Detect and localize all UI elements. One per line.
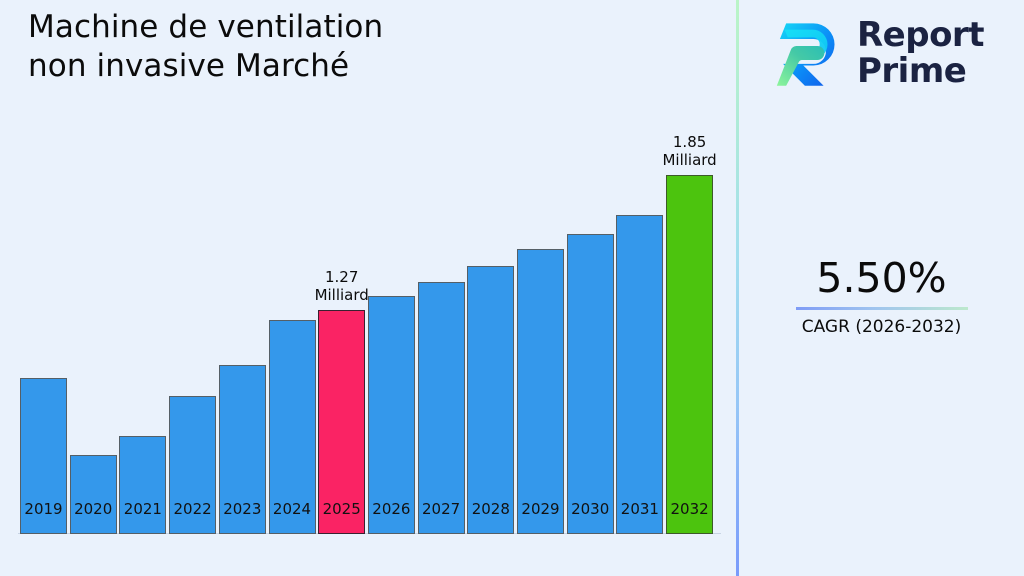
bar-2027[interactable] [418,282,465,534]
bar-value-label-2032: 1.85Milliard [638,133,741,169]
report-prime-mark-icon [769,14,847,92]
cagr-block: 5.50% CAGR (2026-2032) [739,255,1024,338]
logo-line-1: Report [857,15,984,55]
bar-2026[interactable] [368,296,415,534]
logo-line-2: Prime [857,53,984,89]
cagr-value: 5.50% [739,255,1024,301]
bar-group-2025: 1.27Milliard2025 [318,310,365,534]
bar-2020[interactable] [70,455,117,534]
bar-group-2024: 2024 [269,320,316,534]
x-axis-label-2032: 2032 [660,500,719,518]
bar-chart-plot: 2019202020212022202320241.27Milliard2025… [0,0,737,576]
bar-group-2029: 2029 [517,249,564,534]
bar-2030[interactable] [567,234,614,534]
report-prime-logo[interactable]: Report Prime [769,10,1009,96]
bar-value-number-2032: 1.85 [638,133,741,151]
bar-group-2032: 1.85Milliard2032 [666,175,713,534]
bar-group-2030: 2030 [567,234,614,534]
cagr-label: CAGR (2026-2032) [739,316,1024,338]
chart-panel: Machine de ventilation non invasive Marc… [0,0,737,576]
bar-group-2019: 2019 [20,378,67,534]
bar-value-number-2025: 1.27 [290,268,393,286]
bar-2021[interactable] [119,436,166,534]
info-panel: Report Prime 5.50% CAGR (2026-2032) [739,0,1024,576]
bar-group-2026: 2026 [368,296,415,534]
bar-group-2020: 2020 [70,455,117,534]
cagr-divider-rule [796,307,968,310]
bar-group-2023: 2023 [219,365,266,534]
bar-group-2021: 2021 [119,436,166,534]
bar-2029[interactable] [517,249,564,534]
bar-2032[interactable] [666,175,713,534]
bar-group-2028: 2028 [467,266,514,534]
bar-group-2027: 2027 [418,282,465,534]
bar-group-2031: 2031 [616,215,663,534]
bar-2028[interactable] [467,266,514,534]
logo-wordmark: Report Prime [857,17,984,89]
bar-2031[interactable] [616,215,663,534]
bar-value-unit-2032: Milliard [638,151,741,169]
chart-page: Machine de ventilation non invasive Marc… [0,0,1024,576]
bar-group-2022: 2022 [169,396,216,534]
